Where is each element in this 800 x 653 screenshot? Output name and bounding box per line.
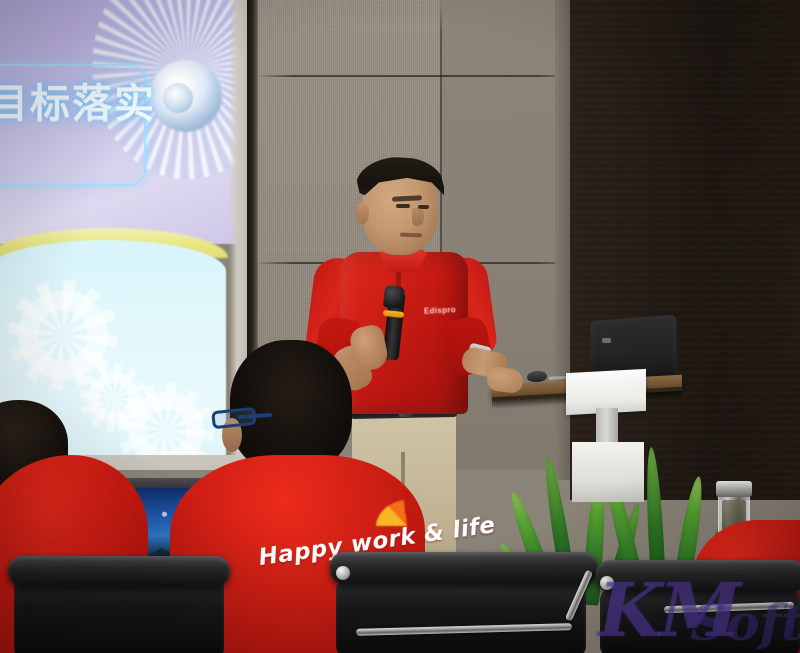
attendee-head: [230, 340, 352, 472]
photo-scene: 目标落实: [0, 0, 800, 653]
presenter-chest-logo: Edispro: [424, 304, 457, 317]
lectern-base: [572, 442, 644, 502]
chair-chrome-knob-right: [600, 576, 614, 590]
presenter-mouth: [400, 233, 422, 238]
slide-title-text: 目标落实: [0, 84, 156, 124]
wall-seam-horizontal-upper: [255, 75, 575, 77]
chair-back-center[interactable]: [336, 578, 586, 653]
chair-headrest-left[interactable]: [8, 556, 230, 586]
presenter-eye-left: [396, 204, 410, 208]
wood-panel-seam: [648, 0, 651, 500]
projection-screen: 目标落实: [0, 0, 247, 470]
water-bottle-cap[interactable]: [716, 481, 752, 497]
chair-headrest-right[interactable]: [596, 560, 800, 592]
chair-headrest-center[interactable]: [330, 552, 598, 584]
chair-chrome-knob-left: [336, 566, 350, 580]
presenter-nose: [412, 208, 424, 226]
laptop-webcam: [602, 338, 611, 343]
chair-back-right[interactable]: [600, 588, 800, 653]
microphone-head-icon: [383, 285, 405, 309]
slide-turbine-nose: [163, 83, 193, 113]
presenter-ear: [356, 202, 369, 224]
